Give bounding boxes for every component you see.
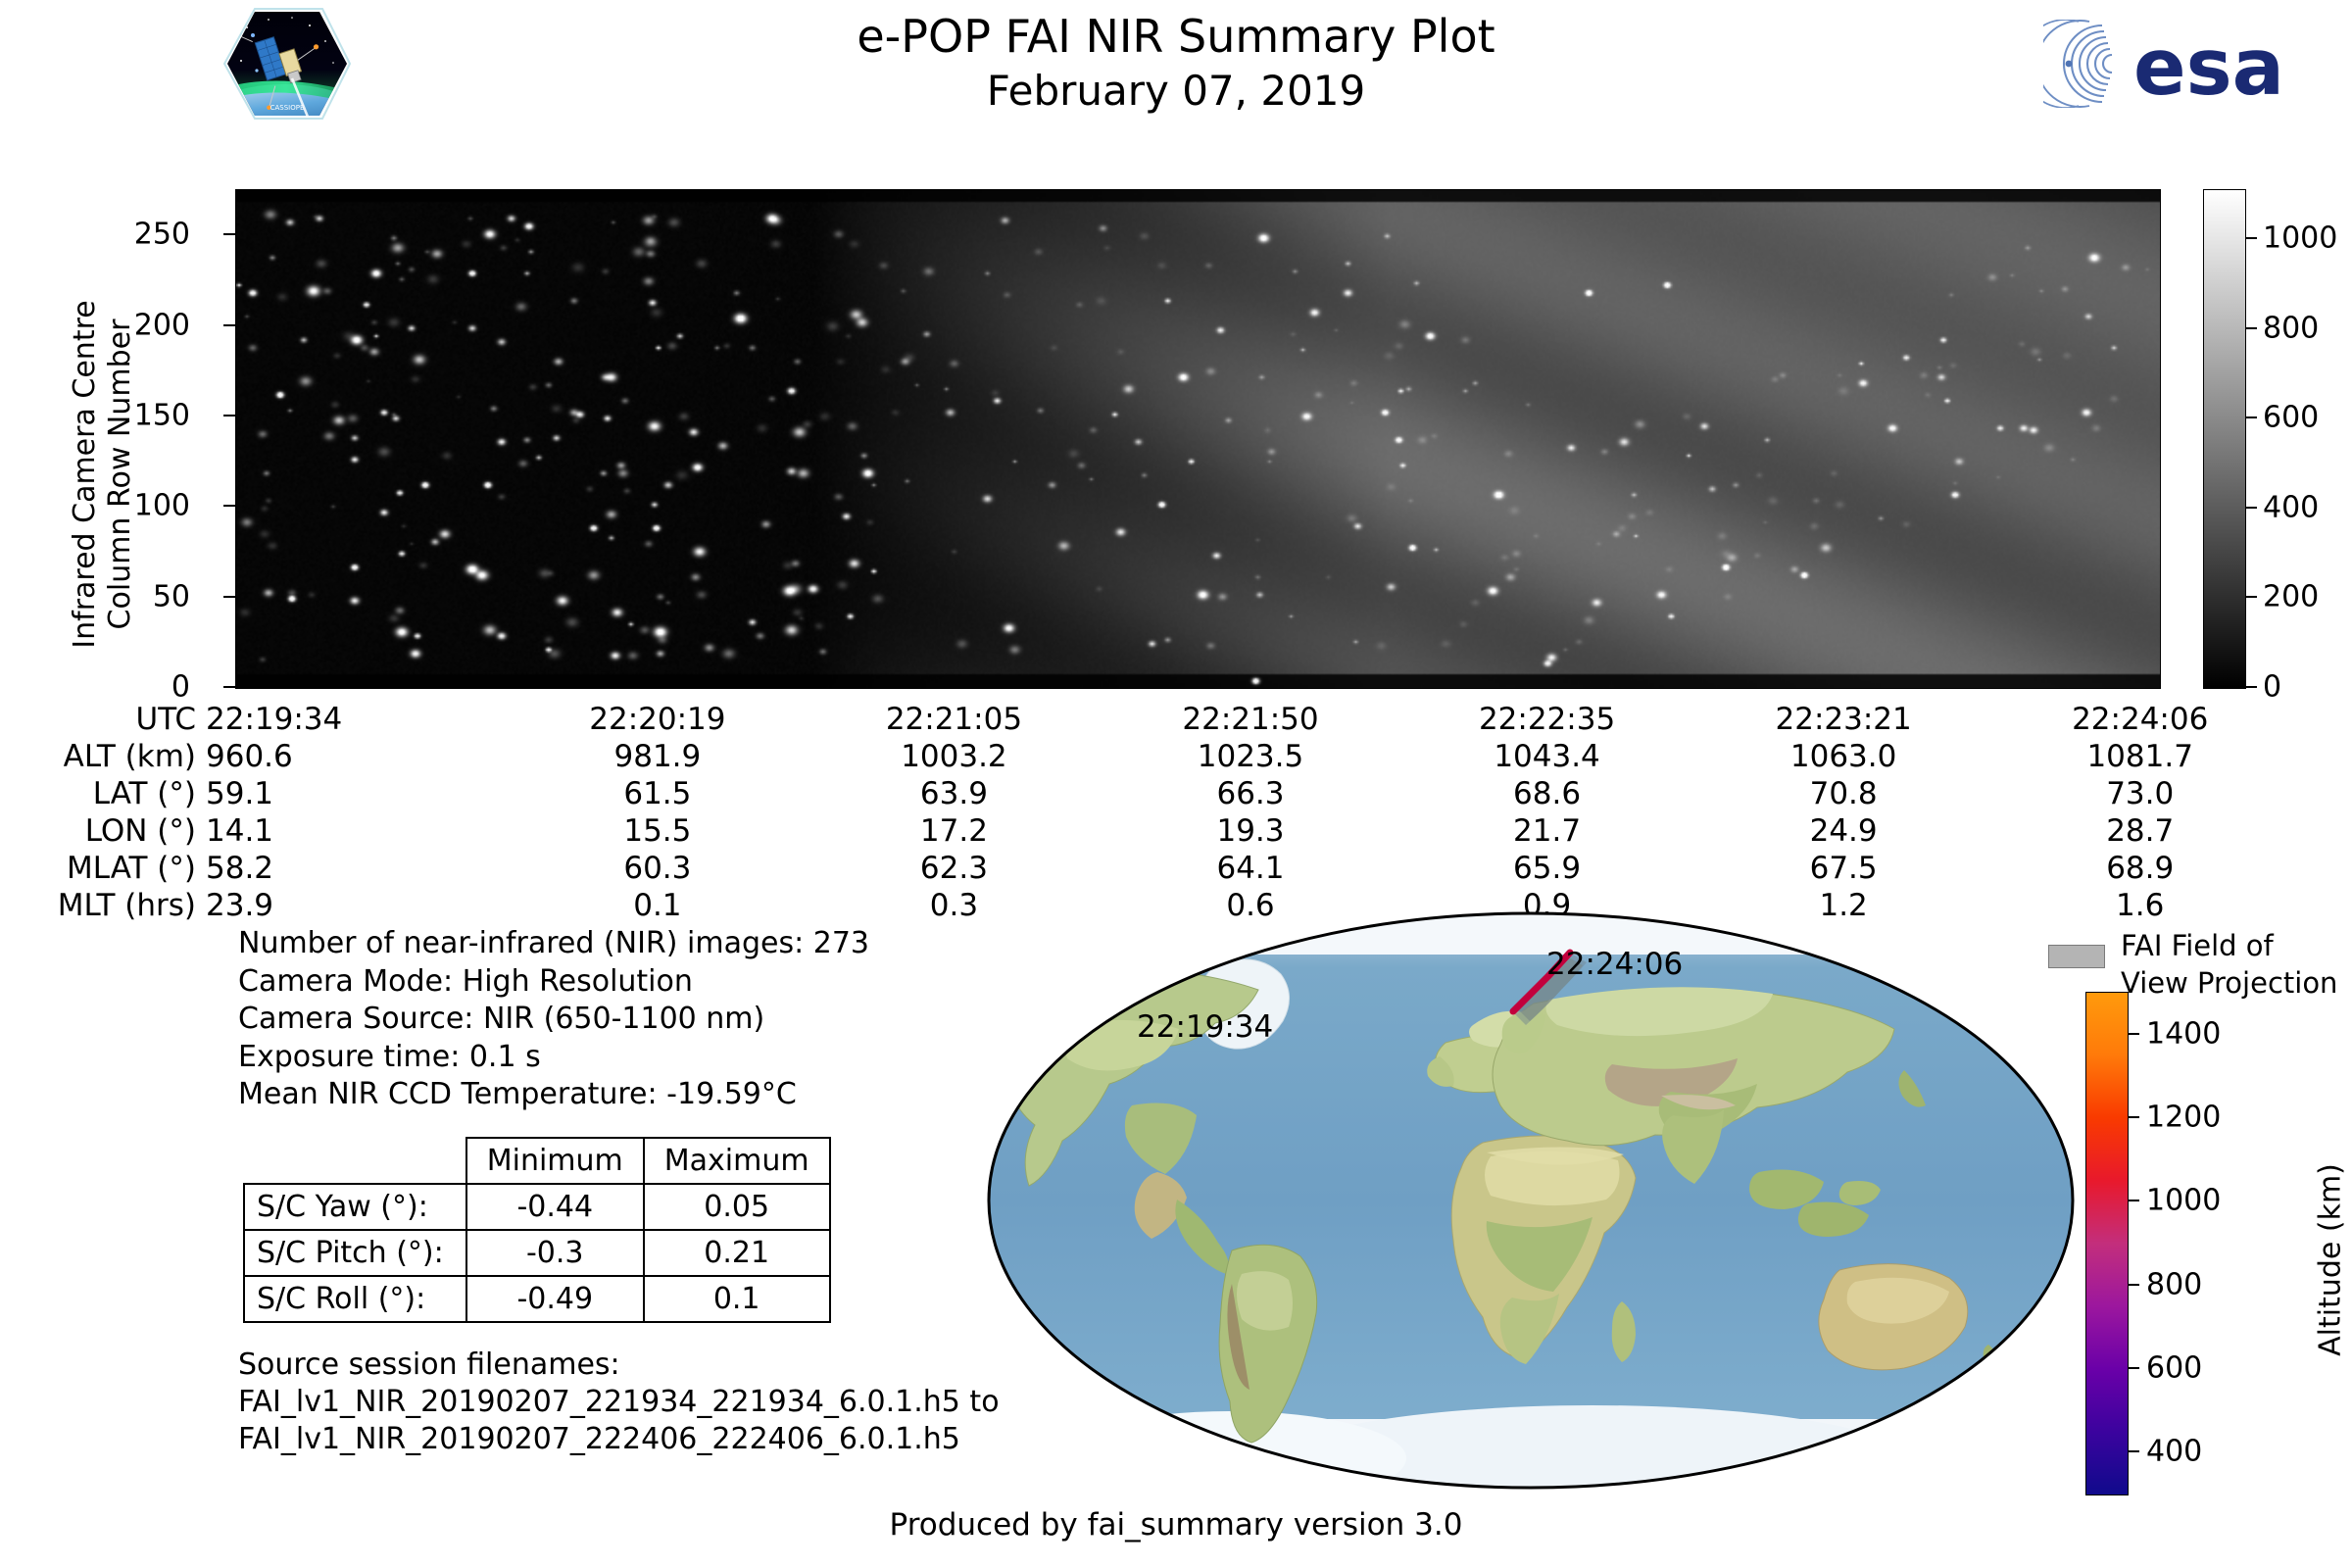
ephemeris-cell: 1081.7 bbox=[1991, 738, 2288, 775]
filename-end: FAI_lv1_NIR_20190207_222406_222406_6.0.1… bbox=[238, 1421, 1000, 1458]
ephemeris-cell: 22:20:19 bbox=[510, 701, 807, 738]
ephemeris-cell: 68.6 bbox=[1398, 775, 1695, 812]
keogram-y-tick-label: 50 bbox=[153, 579, 190, 613]
sc-table-cell-max: 0.05 bbox=[644, 1184, 830, 1230]
ephemeris-row-label: MLAT (°) bbox=[44, 850, 200, 887]
keogram-y-tick-mark bbox=[223, 596, 235, 598]
keogram-y-tick-mark bbox=[223, 686, 235, 688]
ephemeris-cell: 981.9 bbox=[510, 738, 807, 775]
altitude-colorbar-tick-mark bbox=[2129, 1367, 2139, 1369]
altitude-colorbar-label: Altitude (km) bbox=[2314, 1054, 2348, 1466]
ephemeris-cell: 960.6 bbox=[200, 738, 510, 775]
keogram-y-tick-mark bbox=[223, 324, 235, 326]
ephemeris-cell: 67.5 bbox=[1695, 850, 1992, 887]
title-date: February 07, 2019 bbox=[0, 65, 2352, 118]
keogram-y-tick-mark bbox=[223, 415, 235, 416]
fov-legend-line1: FAI Field of bbox=[2121, 927, 2337, 964]
ephemeris-row: LAT (°)59.161.563.966.368.670.873.0 bbox=[44, 775, 2288, 812]
sc-table-cell-min: -0.3 bbox=[466, 1230, 644, 1276]
ephemeris-cell: 1003.2 bbox=[806, 738, 1102, 775]
ephemeris-cell: 1023.5 bbox=[1102, 738, 1399, 775]
signal-colorbar-tick-label: 400 bbox=[2263, 490, 2319, 524]
altitude-colorbar-tick-label: 1200 bbox=[2146, 1101, 2221, 1135]
filenames-heading: Source session filenames: bbox=[238, 1347, 1000, 1384]
map-end-time-label: 22:24:06 bbox=[1546, 947, 1683, 982]
ephemeris-cell: 19.3 bbox=[1102, 812, 1399, 850]
ephemeris-row: UTC22:19:3422:20:1922:21:0522:21:5022:22… bbox=[44, 701, 2288, 738]
nir-keogram-image bbox=[235, 189, 2161, 689]
keogram-y-tick-label: 150 bbox=[134, 398, 190, 432]
ephemeris-cell: 23.9 bbox=[200, 887, 510, 924]
sc-table-row: S/C Yaw (°):-0.440.05 bbox=[244, 1184, 830, 1230]
altitude-colorbar-tick-mark bbox=[2129, 1284, 2139, 1286]
ephemeris-cell: 59.1 bbox=[200, 775, 510, 812]
altitude-colorbar-tick-mark bbox=[2129, 1116, 2139, 1118]
session-info-block: Number of near-infrared (NIR) images: 27… bbox=[238, 925, 869, 1114]
signal-colorbar-tick-label: 1000 bbox=[2263, 221, 2337, 256]
esa-wordmark: esa bbox=[2133, 23, 2284, 108]
sc-table-cell-min: -0.49 bbox=[466, 1276, 644, 1322]
ephemeris-cell: 24.9 bbox=[1695, 812, 1992, 850]
ephemeris-cell: 70.8 bbox=[1695, 775, 1992, 812]
signal-colorbar-tick-mark bbox=[2246, 507, 2257, 509]
sc-table-cell-min: -0.44 bbox=[466, 1184, 644, 1230]
ephemeris-row-label: LON (°) bbox=[44, 812, 200, 850]
ephemeris-cell: 61.5 bbox=[510, 775, 807, 812]
fov-legend-swatch bbox=[2048, 945, 2105, 968]
source-filenames-block: Source session filenames: FAI_lv1_NIR_20… bbox=[238, 1347, 1000, 1458]
cassiope-logo-icon: CASSIOPE bbox=[223, 6, 351, 122]
ephemeris-cell: 28.7 bbox=[1991, 812, 2288, 850]
keogram-y-axis-label: Infrared Camera Centre Column Row Number bbox=[68, 269, 138, 680]
ephemeris-cell: 63.9 bbox=[806, 775, 1102, 812]
ephemeris-row-label: UTC bbox=[44, 701, 200, 738]
ephemeris-cell: 1043.4 bbox=[1398, 738, 1695, 775]
ephemeris-cell: 17.2 bbox=[806, 812, 1102, 850]
keogram-y-tick-label: 250 bbox=[134, 218, 190, 252]
info-line-ccd-temp: Mean NIR CCD Temperature: -19.59°C bbox=[238, 1076, 869, 1114]
signal-colorbar-tick-label: 800 bbox=[2263, 311, 2319, 345]
cassiope-logo-caption: CASSIOPE bbox=[270, 104, 305, 112]
altitude-colorbar-tick-label: 1000 bbox=[2146, 1184, 2221, 1218]
altitude-colorbar-tick-label: 1400 bbox=[2146, 1016, 2221, 1051]
footer-credit: Produced by fai_summary version 3.0 bbox=[0, 1507, 2352, 1543]
info-line-camera-source: Camera Source: NIR (650-1100 nm) bbox=[238, 1001, 869, 1039]
filename-start: FAI_lv1_NIR_20190207_221934_221934_6.0.1… bbox=[238, 1384, 1000, 1421]
fov-legend-line2: View Projection bbox=[2121, 964, 2337, 1002]
ephemeris-cell: 22:21:50 bbox=[1102, 701, 1399, 738]
sc-table-col-header: Minimum bbox=[466, 1138, 644, 1184]
ephemeris-table: UTC22:19:3422:20:1922:21:0522:21:5022:22… bbox=[0, 701, 2352, 924]
page-title: e-POP FAI NIR Summary Plot February 07, … bbox=[0, 8, 2352, 118]
ephemeris-cell: 22:22:35 bbox=[1398, 701, 1695, 738]
sc-table-cell-label: S/C Yaw (°): bbox=[244, 1184, 466, 1230]
ephemeris-cell: 58.2 bbox=[200, 850, 510, 887]
signal-colorbar-tick-mark bbox=[2246, 596, 2257, 598]
sc-table-row: S/C Pitch (°):-0.30.21 bbox=[244, 1230, 830, 1276]
fov-legend-text: FAI Field of View Projection bbox=[2121, 927, 2337, 1002]
ephemeris-cell: 21.7 bbox=[1398, 812, 1695, 850]
ephemeris-cell: 64.1 bbox=[1102, 850, 1399, 887]
ephemeris-cell: 22:23:21 bbox=[1695, 701, 1992, 738]
sc-table-row: S/C Roll (°):-0.490.1 bbox=[244, 1276, 830, 1322]
altitude-colorbar-tick-mark bbox=[2129, 1450, 2139, 1452]
altitude-colorbar-tick-mark bbox=[2129, 1200, 2139, 1201]
world-map-orbit-track bbox=[985, 909, 2078, 1493]
info-line-camera-mode: Camera Mode: High Resolution bbox=[238, 963, 869, 1002]
altitude-colorbar-tick-label: 400 bbox=[2146, 1435, 2202, 1469]
sc-table-cell-label: S/C Roll (°): bbox=[244, 1276, 466, 1322]
altitude-colorbar-tick-mark bbox=[2129, 1033, 2139, 1035]
sc-table-cell-max: 0.21 bbox=[644, 1230, 830, 1276]
ephemeris-cell: 66.3 bbox=[1102, 775, 1399, 812]
ephemeris-cell: 1063.0 bbox=[1695, 738, 1992, 775]
ephemeris-row-label: LAT (°) bbox=[44, 775, 200, 812]
sc-table-cell-label: S/C Pitch (°): bbox=[244, 1230, 466, 1276]
title-main: e-POP FAI NIR Summary Plot bbox=[0, 8, 2352, 65]
ephemeris-cell: 14.1 bbox=[200, 812, 510, 850]
ephemeris-cell: 22:24:06 bbox=[1991, 701, 2288, 738]
keogram-y-tick-label: 100 bbox=[134, 489, 190, 523]
ephemeris-cell: 60.3 bbox=[510, 850, 807, 887]
ephemeris-row: ALT (km)960.6981.91003.21023.51043.41063… bbox=[44, 738, 2288, 775]
sc-table-header-row: MinimumMaximum bbox=[244, 1138, 830, 1184]
signal-colorbar-tick-label: 600 bbox=[2263, 401, 2319, 435]
keogram-y-tick-mark bbox=[223, 233, 235, 235]
altitude-colorbar bbox=[2085, 992, 2129, 1495]
map-start-time-label: 22:19:34 bbox=[1137, 1009, 1273, 1045]
keogram-y-tick-label: 200 bbox=[134, 308, 190, 342]
sc-table-corner bbox=[244, 1138, 466, 1184]
info-line-images: Number of near-infrared (NIR) images: 27… bbox=[238, 925, 869, 963]
sc-table-col-header: Maximum bbox=[644, 1138, 830, 1184]
ephemeris-cell: 22:21:05 bbox=[806, 701, 1102, 738]
keogram-y-tick-mark bbox=[223, 505, 235, 507]
ephemeris-cell: 73.0 bbox=[1991, 775, 2288, 812]
keogram-y-tick-label: 0 bbox=[171, 670, 190, 705]
info-line-exposure: Exposure time: 0.1 s bbox=[238, 1039, 869, 1077]
ephemeris-cell: 22:19:34 bbox=[200, 701, 510, 738]
ephemeris-row-label: MLT (hrs) bbox=[44, 887, 200, 924]
signal-colorbar-tick-mark bbox=[2246, 237, 2257, 239]
altitude-colorbar-tick-label: 800 bbox=[2146, 1267, 2202, 1301]
spacecraft-attitude-table: MinimumMaximumS/C Yaw (°):-0.440.05S/C P… bbox=[243, 1137, 831, 1323]
ephemeris-cell: 68.9 bbox=[1991, 850, 2288, 887]
ephemeris-cell: 65.9 bbox=[1398, 850, 1695, 887]
ephemeris-row: MLAT (°)58.260.362.364.165.967.568.9 bbox=[44, 850, 2288, 887]
signal-colorbar bbox=[2203, 189, 2246, 689]
sc-table-cell-max: 0.1 bbox=[644, 1276, 830, 1322]
altitude-colorbar-tick-label: 600 bbox=[2146, 1351, 2202, 1386]
signal-colorbar-tick-label: 200 bbox=[2263, 580, 2319, 614]
signal-colorbar-tick-label: 0 bbox=[2263, 670, 2281, 705]
ephemeris-cell: 62.3 bbox=[806, 850, 1102, 887]
signal-colorbar-tick-mark bbox=[2246, 327, 2257, 329]
ephemeris-cell: 15.5 bbox=[510, 812, 807, 850]
ephemeris-row: LON (°)14.115.517.219.321.724.928.7 bbox=[44, 812, 2288, 850]
signal-colorbar-tick-mark bbox=[2246, 686, 2257, 688]
signal-colorbar-tick-mark bbox=[2246, 416, 2257, 418]
ephemeris-cell: 0.1 bbox=[510, 887, 807, 924]
esa-logo-icon: esa bbox=[2043, 20, 2308, 108]
ephemeris-row-label: ALT (km) bbox=[44, 738, 200, 775]
